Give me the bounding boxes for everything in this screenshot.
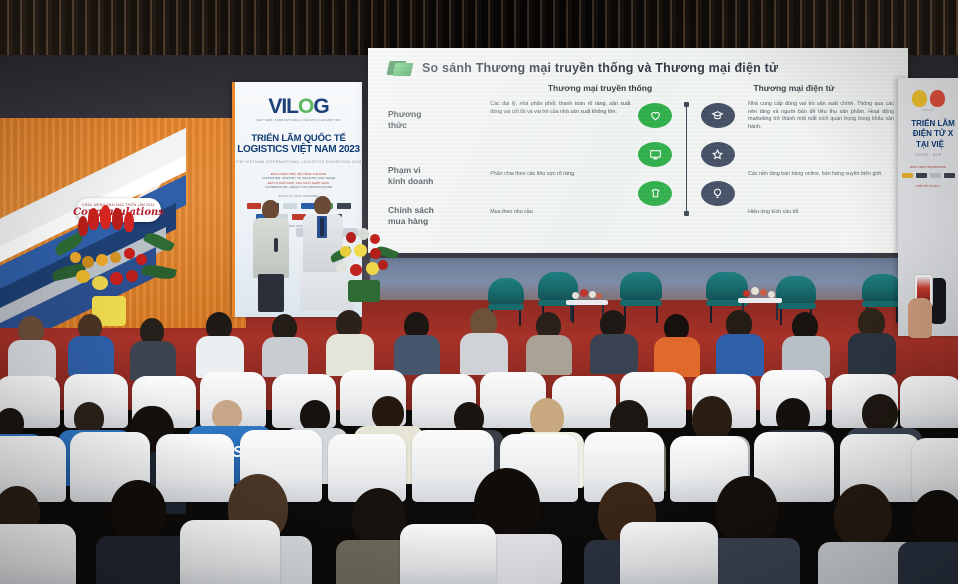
traditional-text-row2: Phân chia theo các khu vực rõ ràng.: [490, 159, 630, 199]
row-label-line1: Phạm vi: [388, 165, 490, 176]
stage-chair: [488, 278, 524, 310]
row-label-line2: thức: [388, 120, 490, 131]
vilog-subtitle: THE VIETNAM INTERNATIONAL LOGISTICS EXHI…: [235, 159, 362, 164]
vilog-organizer-block: ĐƠN VỊ BẢO TRỢ: BỘ CÔNG THƯƠNG SUPPORTER…: [235, 172, 362, 190]
comparison-axis: [680, 99, 693, 243]
vilog-logo-tagline: VIET NAM INTERNATIONAL LOGISTICS EXHIBIT…: [253, 119, 345, 122]
table-flowers: [742, 286, 778, 300]
slide-content: So sánh Thương mại truyền thống và Thươn…: [368, 48, 908, 253]
audience-chair: [900, 376, 958, 428]
stage-chair: [620, 272, 662, 306]
red-mascot-icon: [930, 90, 945, 107]
camera-operator: [900, 268, 956, 378]
row-label-column: Phương thức Phạm vi kinh doanh Chính sác…: [388, 99, 490, 243]
row-label-line1: Chính sách: [388, 205, 490, 216]
conference-photo-scene: CHÚC MỪNG KHAI MẠC TRIỂN LÃM 2023 Congra…: [0, 0, 958, 584]
row-label-chinh-sach: Chính sách mua hàng: [388, 205, 490, 243]
presentation-screen: So sánh Thương mại truyền thống và Thươn…: [368, 48, 908, 253]
banner-mascots: [898, 90, 958, 107]
audience-chair: [0, 524, 76, 584]
yellow-mascot-icon: [912, 90, 927, 107]
sponsor-logo: [930, 173, 941, 178]
sponsor-logo: [916, 173, 927, 178]
ecommerce-text-column: Nhà cung cấp đóng vai trò sản xuất chính…: [742, 99, 894, 243]
floral-stand: [52, 208, 176, 328]
column-header-ecommerce: Thương mại điện tử: [694, 83, 894, 93]
audience-chair: [620, 522, 718, 584]
ecommerce-text-row3: Hiệu ứng kích cầu tốt: [748, 199, 894, 237]
vilog-org-line2-en: COORDINATOR: AGENCY OF FOREIGN TRADE: [235, 185, 362, 190]
right-banner-title-line3: TẠI VIỆ: [898, 140, 958, 150]
audience-chair: [400, 524, 496, 584]
stage-chair: [862, 274, 902, 307]
folder-icon: [388, 58, 413, 77]
traditional-text-row1: Các đại lý, nhà phân phối; thanh toán rõ…: [490, 101, 630, 159]
vilog-title-line2: LOGISTICS VIỆT NAM 2023: [235, 144, 362, 156]
stage-chair: [776, 276, 816, 309]
star-icon: [701, 142, 735, 167]
row-label-line2: kinh doanh: [388, 176, 490, 187]
row-label-phuong-thuc: Phương thức: [388, 109, 490, 165]
microphone-icon: [274, 238, 278, 252]
vilog-logo: VILOG VIET NAM INTERNATIONAL LOGISTICS E…: [253, 96, 345, 122]
graduation-cap-icon: [701, 103, 735, 128]
lightbulb-icon: [701, 181, 735, 206]
row-label-line2: mua hàng: [388, 216, 490, 227]
traditional-text-column: Các đại lý, nhà phân phối; thanh toán rõ…: [490, 99, 630, 243]
slide-title: So sánh Thương mại truyền thống và Thươn…: [422, 61, 778, 75]
table-flowers: [570, 288, 604, 302]
slide-column-headers: Thương mại truyền thống Thương mại điện …: [388, 83, 894, 93]
right-banner-footer: PHỐI HỢP TỔ CHỨC: [898, 185, 958, 188]
ecommerce-icon-column: [693, 99, 742, 243]
shirt-icon: [638, 181, 672, 206]
right-banner-org-label: ĐƠN VỊ BẢO TRỢ/SPONSOR: [898, 166, 958, 169]
right-banner-subtitle: CROSS - BOR: [898, 153, 958, 157]
monitor-icon: [638, 142, 672, 167]
vilog-logo-accent: O: [298, 95, 313, 118]
slide-header: So sánh Thương mại truyền thống và Thươn…: [388, 58, 894, 77]
podium-flower-arrangement: [330, 228, 396, 300]
vilog-logo-text: VILOG: [253, 96, 345, 117]
sponsor-logo: [944, 173, 955, 178]
comparison-grid: Phương thức Phạm vi kinh doanh Chính sác…: [388, 99, 894, 243]
right-banner-logos: [898, 173, 958, 178]
heart-icon: [638, 103, 672, 128]
right-banner-sub: DỊCH VỤ: [898, 109, 958, 112]
row-label-line1: Phương: [388, 109, 490, 120]
necktie: [320, 218, 324, 236]
right-banner-title-line1: TRIỂN LÃM: [898, 119, 958, 129]
traditional-icon-column: [630, 99, 679, 243]
traditional-text-row3: Mua theo nhu cầu: [490, 199, 630, 237]
ecommerce-text-row1: Nhà cung cấp đóng vai trò sản xuất chính…: [748, 101, 894, 159]
sponsor-logo: [902, 173, 913, 178]
audience-chair: [156, 434, 234, 502]
audience-area: ALS A VIETNAM LOGISTICS ALS A VIETNAM LO…: [0, 318, 958, 584]
right-banner-title-line2: ĐIỆN TỬ X: [898, 129, 958, 139]
speaker-left: [248, 200, 294, 312]
axis-line: [686, 105, 687, 213]
column-header-traditional: Thương mại truyền thống: [498, 83, 694, 93]
vilog-title-line1: TRIỂN LÃM QUỐC TẾ: [235, 133, 362, 144]
audience-chair: [180, 520, 280, 584]
row-label-pham-vi: Phạm vi kinh doanh: [388, 165, 490, 205]
ecommerce-text-row2: Các nền tảng bán hàng online, bán hàng x…: [748, 159, 894, 199]
hand: [908, 298, 932, 338]
